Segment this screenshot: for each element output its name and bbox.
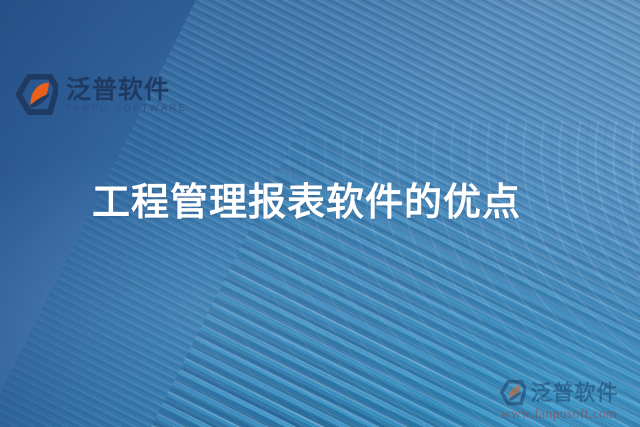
watermark-logo-row: 泛普软件 [500,380,619,406]
company-name-en: FANPU SOFTWARE [66,104,187,114]
company-logo: 泛普软件 FANPU SOFTWARE [16,72,187,118]
watermark-fanpu-logo-icon [500,380,526,406]
banner-image: 泛普软件 FANPU SOFTWARE 工程管理报表软件的优点 泛普软件 www… [0,0,640,427]
watermark-url: www.fanpusoft.com [501,407,617,422]
fanpu-hexagon-sail-logo-icon [16,74,58,116]
watermark-company-name: 泛普软件 [531,383,619,404]
page-title: 工程管理报表软件的优点 [92,181,521,225]
company-logo-text: 泛普软件 FANPU SOFTWARE [66,76,187,115]
watermark: 泛普软件 www.fanpusoft.com [484,380,634,422]
company-name-cn: 泛普软件 [66,77,187,103]
